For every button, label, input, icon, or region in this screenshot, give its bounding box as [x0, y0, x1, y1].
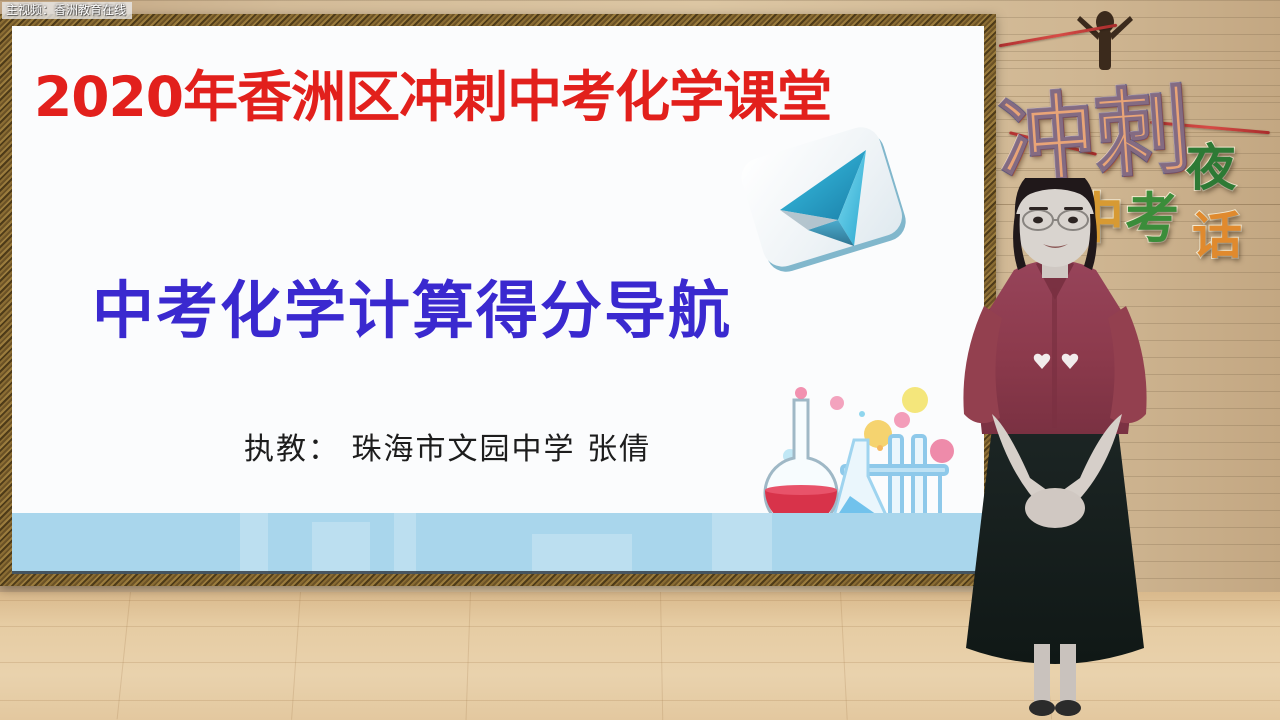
calligraphy-char-hua: 话 — [1192, 196, 1243, 268]
slide-title: 2020年香洲区冲刺中考化学课堂 — [34, 52, 831, 132]
slide-bottom-band — [12, 513, 984, 574]
wall-calligraphy-hua: 话 — [1192, 196, 1243, 268]
presentation-slide[interactable]: 2020年香洲区冲刺中考化学课堂 中考化学计算得分导航 执教： 珠海市文园中学 … — [12, 26, 984, 574]
slide-presenter-line: 执教： 珠海市文园中学 张倩 — [244, 424, 651, 468]
video-frame: 冲刺 中考 夜 话 — [0, 0, 1280, 720]
slide-heading: 中考化学计算得分导航 — [92, 260, 732, 350]
presenter-figure — [930, 178, 1180, 720]
wall-calligraphy-ye: 夜 — [1186, 128, 1237, 200]
slide-baseline — [12, 571, 984, 574]
projection-screen-frame: 2020年香洲区冲刺中考化学课堂 中考化学计算得分导航 执教： 珠海市文园中学 … — [0, 14, 996, 586]
calligraphy-char-ye: 夜 — [1186, 128, 1237, 200]
paper-plane-icon — [738, 126, 914, 276]
video-source-label: 主视频：香洲教育在线 — [2, 2, 132, 19]
